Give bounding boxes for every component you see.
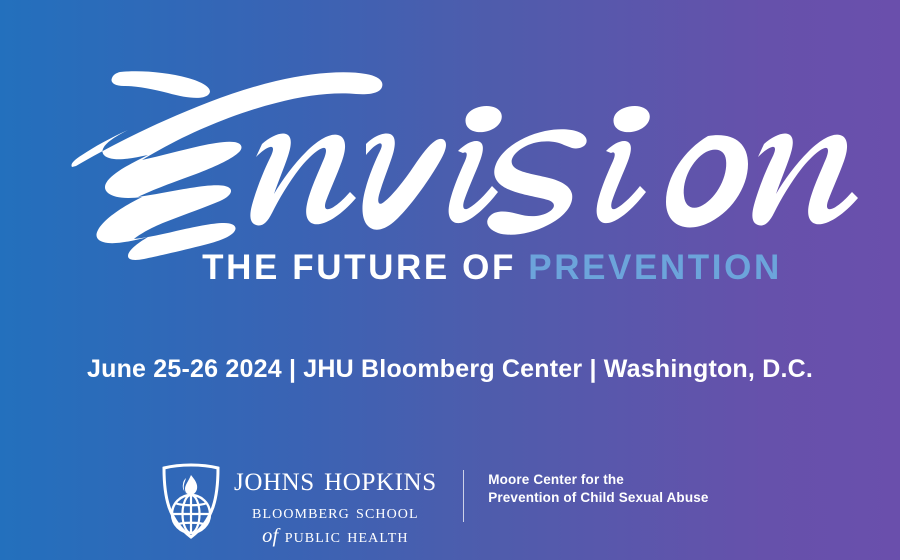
lockup-divider: [463, 470, 465, 522]
jhu-wordmark: Johns Hopkins Bloomberg School of Public…: [234, 460, 437, 548]
moore-center-line-2: Prevention of Child Sexual Abuse: [488, 489, 708, 507]
jhu-school-line-2-text: Public Health: [285, 525, 409, 547]
event-banner: THE FUTURE OF PREVENTION June 25-26 2024…: [0, 0, 900, 560]
tagline-accent: PREVENTION: [528, 248, 782, 287]
jhu-school-line-2-prefix: of: [262, 525, 278, 547]
moore-center-name: Moore Center for the Prevention of Child…: [488, 471, 708, 507]
envision-wordmark: [48, 48, 858, 263]
jhu-school-line-1: Bloomberg School: [234, 500, 437, 524]
event-details-line: June 25-26 2024 | JHU Bloomberg Center |…: [0, 355, 900, 384]
tagline-primary: THE FUTURE OF: [202, 248, 516, 287]
jhu-school-line-2: of Public Health: [234, 524, 437, 548]
banner-tagline: THE FUTURE OF PREVENTION: [0, 248, 900, 288]
moore-center-line-1: Moore Center for the: [488, 471, 708, 489]
logo-lockup: Johns Hopkins Bloomberg School of Public…: [160, 460, 709, 548]
jhu-institution-name: Johns Hopkins: [234, 460, 437, 498]
jhu-shield-icon: [160, 462, 222, 540]
